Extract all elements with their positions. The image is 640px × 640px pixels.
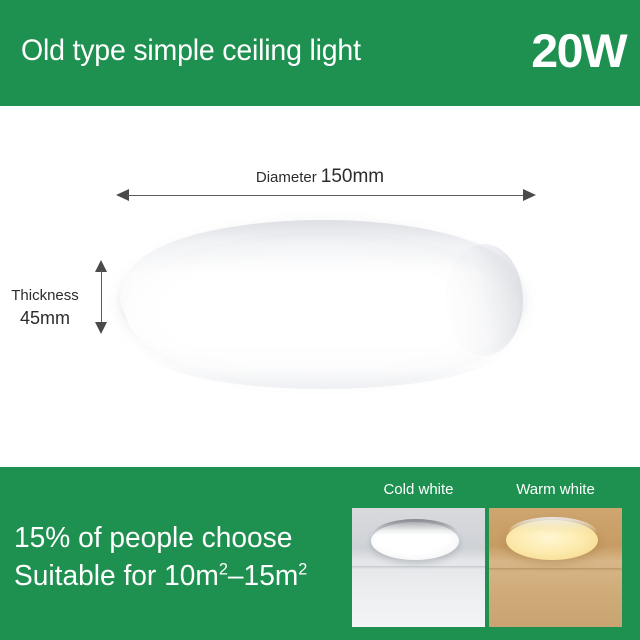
swatch-cold-white[interactable]: Cold white [352,480,485,627]
cold-white-wall-seam [352,566,485,569]
header-banner: Old type simple ceiling light 20W [0,0,640,106]
wattage-badge: 20W [531,22,626,80]
diameter-label: Diameter150mm [0,166,640,188]
thickness-label-word: Thickness [0,284,90,307]
marketing-copy-line-1: 15% of people choose [14,519,307,557]
room-size-middle: –15m [228,560,298,592]
dimension-line-vertical [101,270,102,324]
lamp-right-shading [445,244,523,356]
warm-white-lamp-rim [508,517,597,533]
arrow-down-icon [95,322,107,334]
footer-banner: 15% of people choose Suitable for 10m2–1… [0,467,640,640]
thickness-label: Thickness 45mm [0,284,90,330]
diameter-label-word: Diameter [256,169,317,186]
thickness-arrow [95,260,108,334]
swatch-warm-white[interactable]: Warm white [489,480,622,627]
room-size-superscript-2: 2 [298,559,307,578]
dimension-line [127,195,525,196]
diameter-arrow [116,194,536,197]
marketing-copy: 15% of people choose Suitable for 10m2–1… [14,519,316,595]
diameter-label-value: 150mm [321,166,384,187]
arrow-right-icon [523,189,536,201]
marketing-copy-line-2: Suitable for 10m2–15m2 [14,557,307,595]
warm-white-wall-seam [489,568,622,571]
swatch-cold-white-caption: Cold white [352,480,485,500]
ceiling-light-product-image [120,218,525,403]
swatch-cold-white-photo [352,508,485,627]
swatch-warm-white-caption: Warm white [489,480,622,500]
thickness-label-value: 45mm [0,307,90,330]
room-size-prefix: Suitable for 10m [14,560,219,592]
product-diagram: Diameter150mm Thickness 45mm [0,106,640,467]
cold-white-lamp-rim [373,519,458,535]
lamp-bottom-edge [138,345,508,389]
page-title: Old type simple ceiling light [21,31,361,71]
room-size-superscript-1: 2 [219,559,228,578]
swatch-warm-white-photo [489,508,622,627]
